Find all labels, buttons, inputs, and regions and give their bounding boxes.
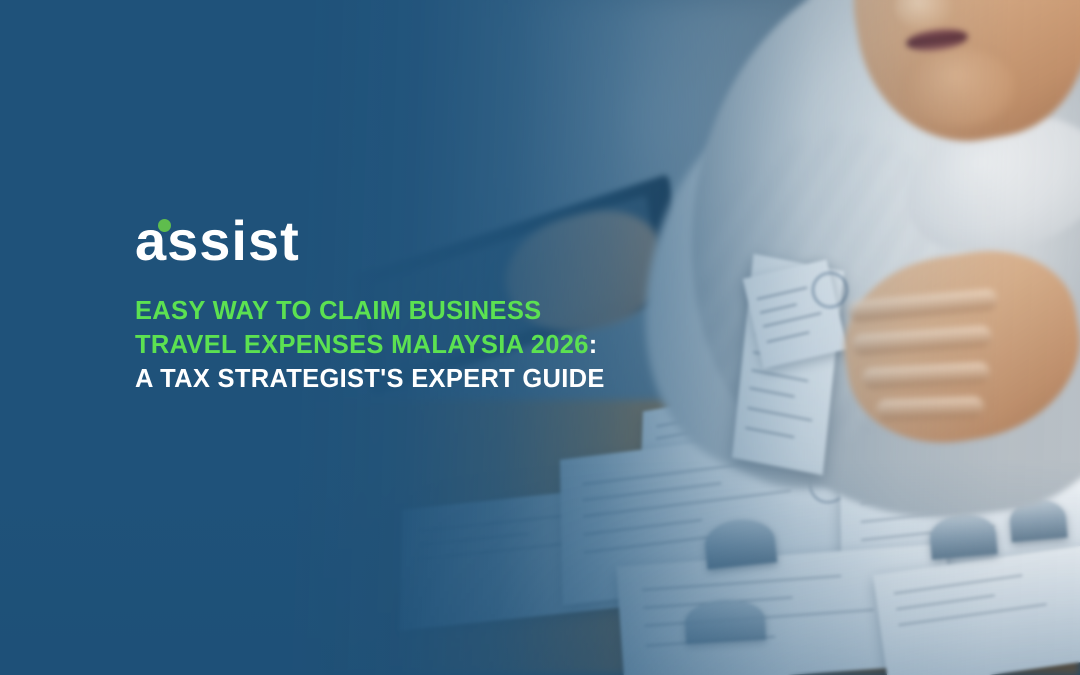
headline-line-2: TRAVEL EXPENSES MALAYSIA 2026: [135,328,735,362]
headline-colon: : [589,331,598,359]
brand-logo[interactable]: assist [135,210,735,272]
article-hero-banner: assist EASY WAY TO CLAIM BUSINESS TRAVEL… [0,0,1080,675]
brand-logo-dot-icon [158,219,171,232]
headline-line-3: A TAX STRATEGIST'S EXPERT GUIDE [135,362,735,396]
hero-content: assist EASY WAY TO CLAIM BUSINESS TRAVEL… [135,210,735,396]
headline-line-1: EASY WAY TO CLAIM BUSINESS [135,294,735,328]
headline-line-2-text: TRAVEL EXPENSES MALAYSIA 2026 [135,331,589,359]
page-title: EASY WAY TO CLAIM BUSINESS TRAVEL EXPENS… [135,294,735,396]
